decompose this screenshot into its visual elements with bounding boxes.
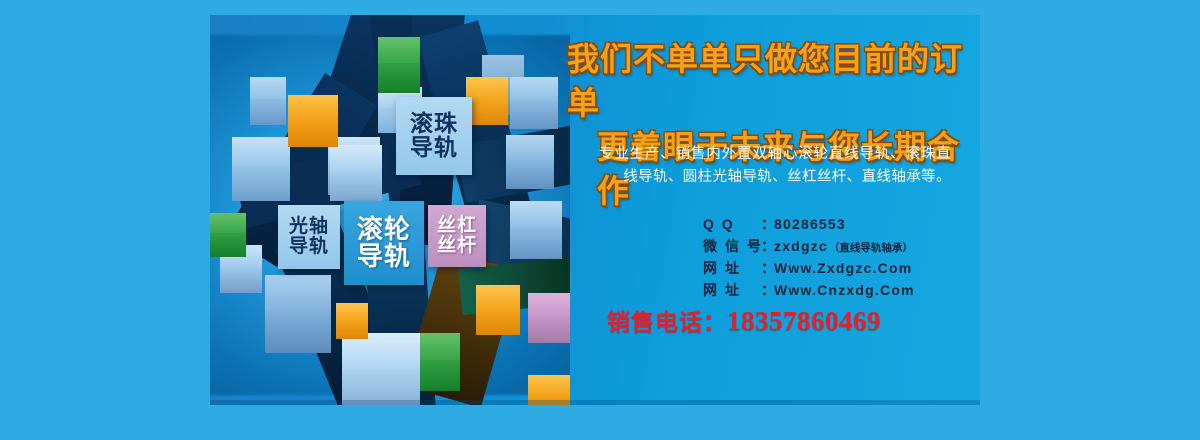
product-label-line1: 滚轮 [357, 216, 411, 243]
cube-orange [466, 77, 508, 125]
banner-copy: 我们不单单只做您目前的订单 更着眼于未来与您长期合作 专业生产、销售内外置双轴心… [555, 15, 980, 405]
contact-key: 网址 [703, 257, 761, 279]
contact-separator: ： [761, 213, 774, 235]
product-label-line2: 导轨 [357, 243, 411, 270]
contact-key: 微信号 [703, 235, 761, 257]
product-label-gunlun-daogui[interactable]: 滚轮 导轨 [344, 201, 424, 285]
product-label-line2: 导轨 [289, 237, 329, 257]
sales-phone[interactable]: 销售电话： 18357860469 [607, 303, 979, 337]
product-label-line1: 滚珠 [410, 112, 458, 136]
headline-line-1: 我们不单单只做您目前的订单 [555, 37, 980, 125]
contact-value: zxdgzc [774, 235, 828, 257]
product-label-gunzhu-daogui[interactable]: 滚珠 导轨 [396, 97, 472, 175]
banner-stage: 滚珠 导轨 光轴 导轨 滚轮 导轨 丝杠 丝杆 [0, 0, 1200, 440]
cube-blue [510, 77, 558, 129]
promo-banner: 滚珠 导轨 光轴 导轨 滚轮 导轨 丝杠 丝杆 [210, 15, 980, 405]
contact-row-qq[interactable]: QQ ： 80286553 [703, 213, 980, 235]
cube-blue [330, 145, 382, 201]
contact-row-website-1[interactable]: 网址 ： Www.Zxdgzc.Com [703, 257, 980, 279]
contact-note: （直线导轨轴承） [829, 240, 913, 257]
contact-key: QQ [703, 213, 761, 235]
contact-separator: ： [761, 257, 774, 279]
cube-blue [265, 275, 331, 353]
product-label-line1: 光轴 [289, 217, 329, 237]
cube-green [420, 333, 460, 391]
cube-orange [476, 285, 520, 335]
description-text: 专业生产、销售内外置双轴心滚轮直线导轨、滚珠直线导轨、圆柱光轴导轨、丝杠丝杆、直… [599, 143, 951, 190]
cube-blue [250, 77, 286, 125]
exploding-cubes-artwork: 滚珠 导轨 光轴 导轨 滚轮 导轨 丝杠 丝杆 [210, 15, 570, 405]
contact-separator: ： [761, 235, 774, 257]
sales-phone-label: 销售电话： [607, 303, 727, 337]
cube-blue [232, 137, 290, 201]
product-label-line2: 丝杆 [437, 236, 477, 256]
cube-blue [506, 135, 554, 189]
cube-orange [336, 303, 368, 339]
product-label-line1: 丝杠 [437, 216, 477, 236]
contact-key: 网址 [703, 279, 761, 301]
contact-block: QQ ： 80286553 微信号 ： zxdgzc （直线导轨轴承） 网址 ：… [703, 213, 980, 301]
contact-row-wechat[interactable]: 微信号 ： zxdgzc （直线导轨轴承） [703, 235, 980, 257]
contact-value: Www.Cnzxdg.Com [774, 279, 915, 301]
contact-separator: ： [761, 279, 774, 301]
cube-green [210, 213, 246, 257]
product-label-line2: 导轨 [410, 136, 458, 160]
contact-value: Www.Zxdgzc.Com [774, 257, 912, 279]
cube-green [378, 37, 420, 93]
contact-row-website-2[interactable]: 网址 ： Www.Cnzxdg.Com [703, 279, 980, 301]
sales-phone-number: 18357860469 [727, 306, 881, 337]
product-label-sigang-sigan[interactable]: 丝杠 丝杆 [428, 205, 486, 267]
cube-blue [342, 333, 420, 405]
cube-orange [288, 95, 338, 147]
product-label-guangzhou-daogui[interactable]: 光轴 导轨 [278, 205, 340, 269]
contact-value: 80286553 [774, 213, 846, 235]
